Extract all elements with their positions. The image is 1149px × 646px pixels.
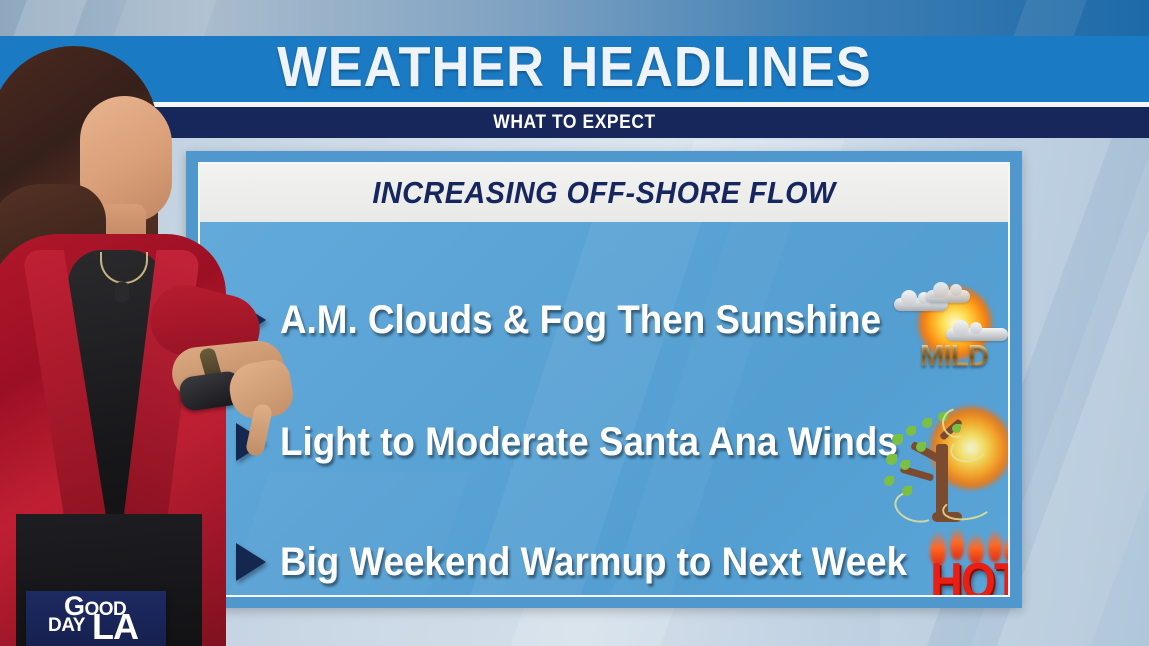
background-top-strip	[0, 0, 1149, 37]
list-item: Light to Moderate Santa Ana Winds	[236, 414, 952, 470]
headline-text: Light to Moderate Santa Ana Winds	[280, 420, 898, 465]
logo-line-day: DAY	[48, 616, 85, 635]
hot-label: HOT	[924, 556, 1008, 595]
list-item: A.M. Clouds & Fog Then Sunshine	[236, 292, 933, 348]
list-item: Big Weekend Warmup to Next Week	[236, 534, 962, 590]
headline-text: Big Weekend Warmup to Next Week	[280, 540, 907, 585]
headlines-panel: INCREASING OFF-SHORE FLOW A.M. Clouds & …	[186, 151, 1022, 608]
panel-title-text: INCREASING OFF-SHORE FLOW	[228, 164, 979, 222]
windy-tree-icon	[876, 400, 1008, 522]
headline-text: A.M. Clouds & Fog Then Sunshine	[280, 298, 881, 343]
panel-body: A.M. Clouds & Fog Then Sunshine Light to…	[200, 222, 1008, 595]
sun-behind-clouds-icon: MILD	[892, 282, 1008, 382]
presenter-figure	[0, 44, 250, 646]
channel-logo: Good DAY LA	[26, 591, 166, 646]
logo-line-la: LA	[92, 609, 138, 645]
flaming-hot-icon: HOT	[916, 532, 1008, 595]
mild-label: MILD	[901, 340, 1007, 371]
broadcast-screen: WEATHER HEADLINES WHAT TO EXPECT INCREAS…	[0, 0, 1149, 646]
panel-inner-frame: INCREASING OFF-SHORE FLOW A.M. Clouds & …	[198, 162, 1010, 597]
panel-title-bar: INCREASING OFF-SHORE FLOW	[200, 164, 1008, 222]
